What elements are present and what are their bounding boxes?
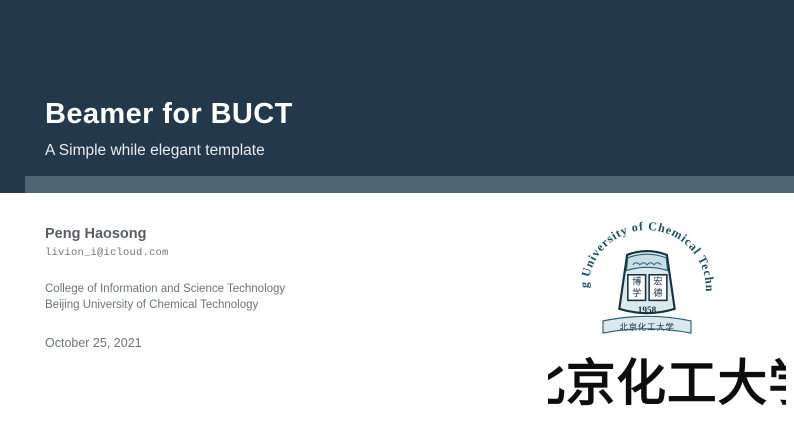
seal-bell-emblem: 博 学 宏 德 1958	[619, 251, 674, 315]
university-wordmark: 北京化工大学	[548, 346, 786, 418]
presentation-date: October 25, 2021	[45, 336, 465, 351]
author-block: Peng Haosong livion_i@icloud.com College…	[45, 226, 465, 351]
university-logo: Beijing University of Chemical Technolog…	[548, 218, 788, 430]
seal-character-hongde: 宏	[653, 276, 662, 288]
affiliation-line-college: College of Information and Science Techn…	[45, 282, 465, 298]
slide-title: Beamer for BUCT	[45, 99, 293, 129]
seal-character-boxue: 博	[632, 276, 641, 288]
title-slide: Beamer for BUCT A Simple while elegant t…	[0, 0, 794, 447]
university-seal-icon: Beijing University of Chemical Technolog…	[576, 218, 718, 360]
header-accent-band	[25, 176, 794, 193]
svg-text:德: 德	[653, 287, 662, 299]
wordmark-calligraphy: 北京化工大学	[548, 346, 786, 418]
wordmark-text: 北京化工大学	[548, 354, 786, 412]
seal-ribbon: 北京化工大学	[603, 316, 691, 333]
author-name: Peng Haosong	[45, 226, 465, 243]
slide-subtitle: A Simple while elegant template	[45, 142, 265, 159]
seal-founding-year: 1958	[638, 305, 657, 315]
author-email: livion_i@icloud.com	[45, 247, 465, 260]
seal-ribbon-text: 北京化工大学	[619, 322, 674, 333]
header-left-accent-block	[0, 176, 25, 193]
affiliation-block: College of Information and Science Techn…	[45, 282, 465, 314]
svg-text:学: 学	[632, 287, 641, 299]
affiliation-line-university: Beijing University of Chemical Technolog…	[45, 298, 465, 314]
